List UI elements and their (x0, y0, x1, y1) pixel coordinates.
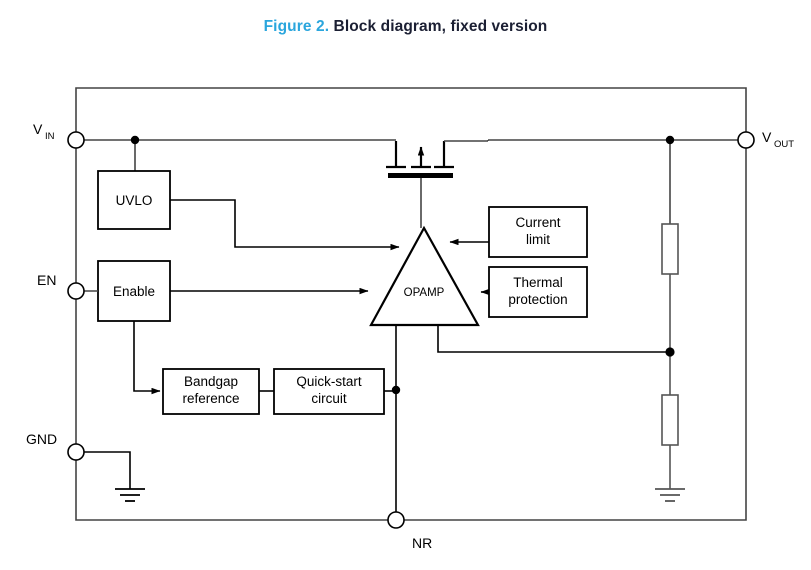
block-thermal-label-line2: protection (508, 292, 567, 307)
pin-terminal-vout[interactable] (738, 132, 754, 148)
junction-dot-quickstart-out (392, 386, 400, 394)
pin-label-gnd-main: GND (26, 431, 57, 447)
pin-label-vin: V IN (33, 121, 55, 142)
opamp-label: OPAMP (404, 287, 445, 299)
pin-label-vout: V OUT (762, 129, 794, 150)
wire-enable-to-bandgap (134, 321, 160, 391)
block-quickstart-label-line2: circuit (311, 391, 347, 406)
block-thermal-label-line1: Thermal (513, 275, 563, 290)
wire-uvlo-to-opamp (170, 200, 399, 247)
block-current-limit[interactable]: Current limit (489, 207, 587, 257)
pin-label-en-main: EN (37, 272, 56, 288)
pin-label-en: EN (37, 272, 56, 288)
pin-label-vin-sub: IN (45, 131, 55, 142)
pin-label-gnd: GND (26, 431, 57, 447)
block-quickstart-label-line1: Quick-start (296, 374, 362, 389)
resistor-feedback-upper (662, 224, 678, 274)
pin-label-vout-sub: OUT (774, 139, 794, 150)
block-current-limit-label-line1: Current (515, 215, 560, 230)
block-thermal-protection[interactable]: Thermal protection (489, 267, 587, 317)
pass-fet (386, 141, 488, 228)
pin-label-vout-main: V (762, 129, 772, 145)
ground-symbol-left (115, 489, 145, 501)
ground-symbol-right (655, 489, 685, 501)
block-uvlo[interactable]: UVLO (98, 171, 170, 229)
pin-terminal-vin[interactable] (68, 132, 84, 148)
block-diagram-canvas: UVLO Enable Bandgap reference Quick-sta (0, 0, 811, 570)
pin-label-nr: NR (412, 535, 432, 551)
wire-gnd-pin-to-ground (76, 452, 130, 489)
junction-dot-divider-tap (665, 347, 674, 356)
wire-opamp-outputs (396, 325, 670, 520)
block-enable[interactable]: Enable (98, 261, 170, 321)
pin-terminal-gnd[interactable] (68, 444, 84, 460)
figure-page: Figure 2. Block diagram, fixed version (0, 0, 811, 570)
block-uvlo-label: UVLO (116, 193, 153, 208)
pin-label-nr-main: NR (412, 535, 432, 551)
junction-dot-vout-rail (666, 136, 674, 144)
block-current-limit-label-line2: limit (526, 232, 550, 247)
block-enable-label: Enable (113, 284, 155, 299)
block-bandgap-label-line2: reference (182, 391, 239, 406)
pin-terminal-nr[interactable] (388, 512, 404, 528)
pin-terminal-en[interactable] (68, 283, 84, 299)
resistor-feedback-lower (662, 395, 678, 445)
junction-dot-vin-rail (131, 136, 139, 144)
block-bandgap-reference[interactable]: Bandgap reference (163, 369, 259, 414)
block-bandgap-label-line1: Bandgap (184, 374, 238, 389)
vin-rail-wire (76, 140, 396, 171)
fet-channel-bar (388, 173, 453, 178)
pin-label-vin-main: V (33, 121, 43, 137)
block-quick-start-circuit[interactable]: Quick-start circuit (274, 369, 384, 414)
